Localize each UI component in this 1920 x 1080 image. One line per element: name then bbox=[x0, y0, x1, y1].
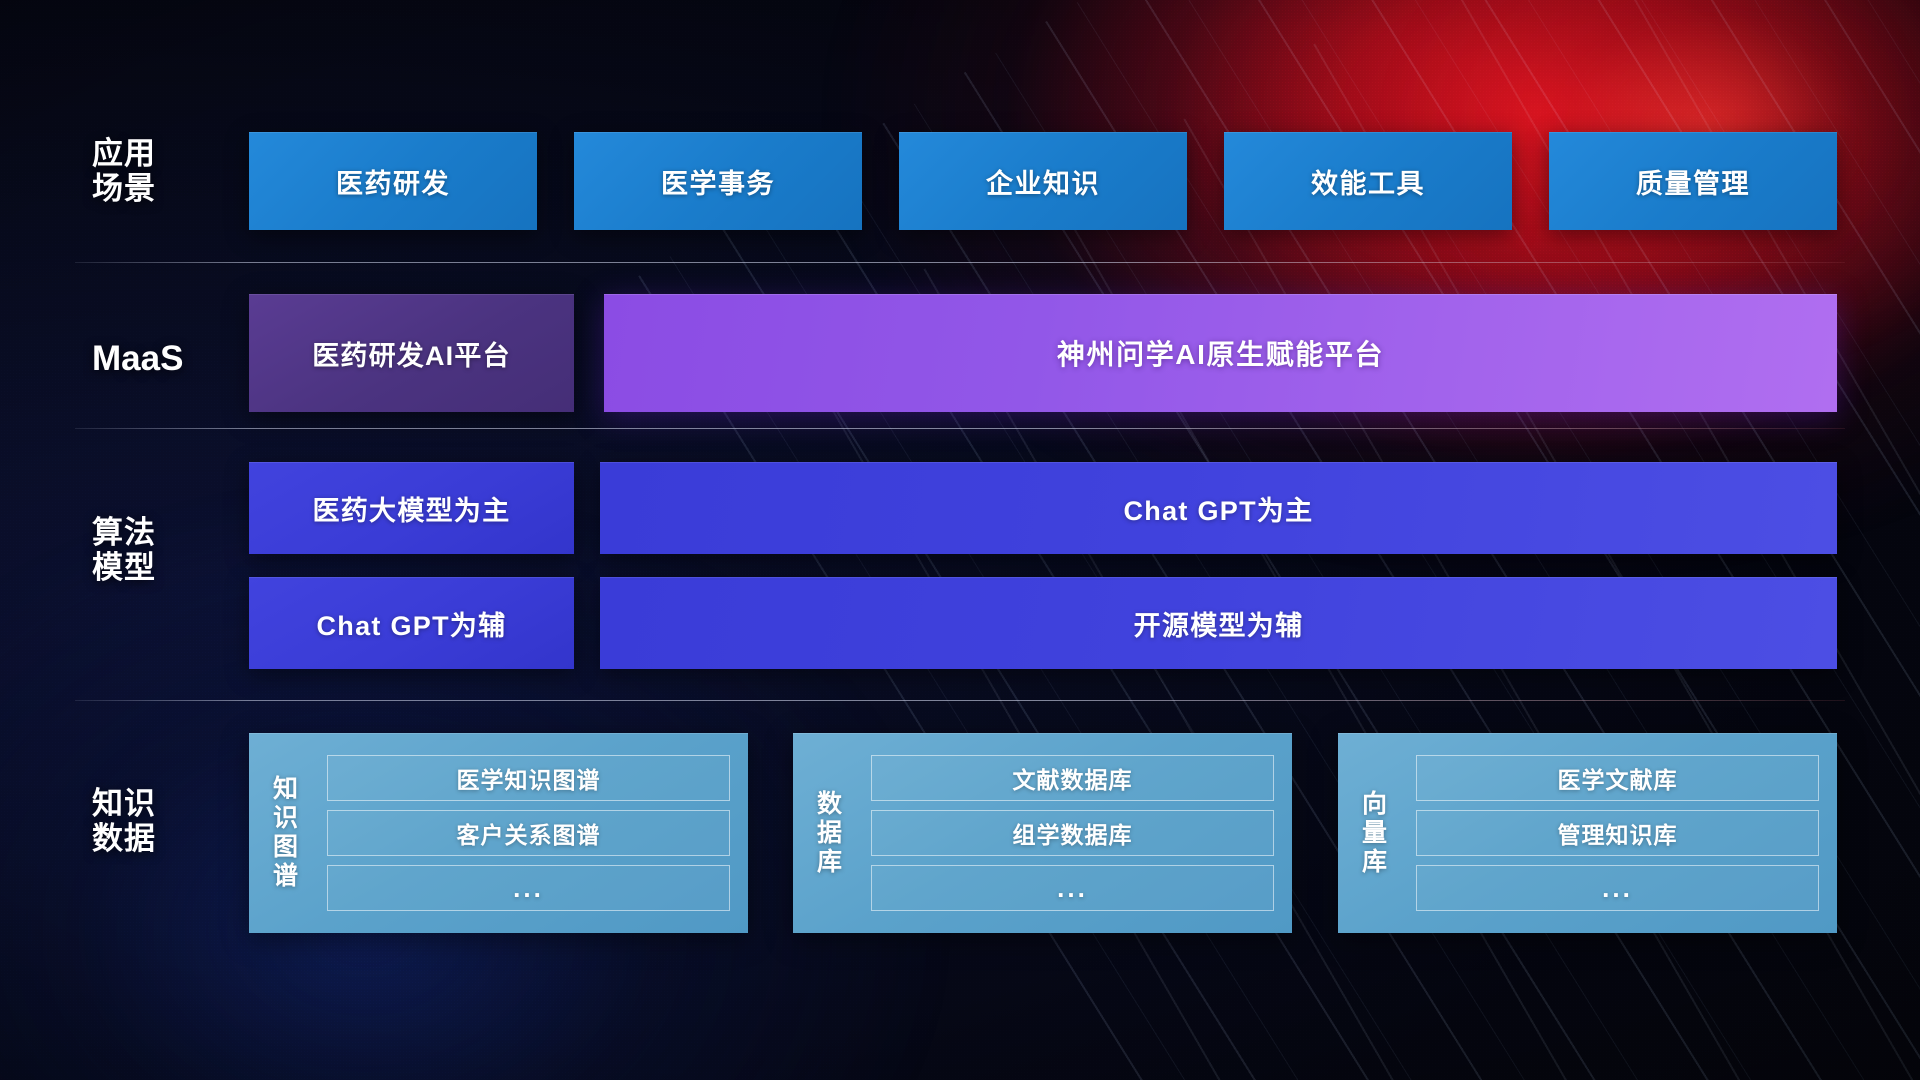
knowledge-panel-items: 医学文献库 管理知识库 ... bbox=[1412, 733, 1837, 933]
knowledge-item[interactable]: 组学数据库 bbox=[871, 810, 1274, 856]
diagram-content: 应用 场景 医药研发 医学事务 企业知识 效能工具 质量管理 MaaS bbox=[0, 0, 1920, 1080]
vertical-label-char: 知 bbox=[273, 775, 299, 804]
row-label-line-2: 场景 bbox=[92, 171, 222, 206]
divider-1 bbox=[75, 262, 1845, 263]
app-box-label: 效能工具 bbox=[1311, 162, 1425, 201]
row-label-line-1: 应用 bbox=[92, 136, 222, 171]
row-label-line-1: MaaS bbox=[92, 339, 222, 379]
row-label-line-1: 知识 bbox=[92, 786, 222, 821]
app-box-label: 医学事务 bbox=[661, 162, 775, 201]
app-box-medicine-rd[interactable]: 医药研发 bbox=[249, 132, 537, 230]
knowledge-panel-vector-store[interactable]: 向 量 库 医学文献库 管理知识库 ... bbox=[1338, 733, 1837, 933]
knowledge-panel-vertical-label: 知 识 图 谱 bbox=[249, 733, 323, 933]
algo-box-label: 开源模型为辅 bbox=[1134, 604, 1304, 643]
row-label-line-2: 数据 bbox=[92, 821, 222, 856]
row-label-line-1: 算法 bbox=[92, 515, 222, 550]
app-box-label: 企业知识 bbox=[986, 162, 1100, 201]
vertical-label-char: 库 bbox=[817, 848, 843, 877]
knowledge-item-more[interactable]: ... bbox=[871, 865, 1274, 911]
diagram-canvas: 应用 场景 医药研发 医学事务 企业知识 效能工具 质量管理 MaaS bbox=[0, 0, 1920, 1080]
maas-box-label: 神州问学AI原生赋能平台 bbox=[1057, 333, 1384, 373]
knowledge-item[interactable]: 客户关系图谱 bbox=[327, 810, 730, 856]
vertical-label-char: 识 bbox=[273, 804, 299, 833]
knowledge-item[interactable]: 医学知识图谱 bbox=[327, 755, 730, 801]
vertical-label-char: 图 bbox=[273, 833, 299, 862]
divider-2 bbox=[75, 428, 1845, 429]
row-label-application-scenario: 应用 场景 bbox=[92, 136, 222, 207]
vertical-label-char: 向 bbox=[1362, 790, 1388, 819]
knowledge-item-more[interactable]: ... bbox=[1416, 865, 1819, 911]
app-box-quality-management[interactable]: 质量管理 bbox=[1549, 132, 1837, 230]
knowledge-panel-items: 医学知识图谱 客户关系图谱 ... bbox=[323, 733, 748, 933]
knowledge-item[interactable]: 管理知识库 bbox=[1416, 810, 1819, 856]
row-label-algorithm-model: 算法 模型 bbox=[92, 515, 222, 586]
app-box-label: 质量管理 bbox=[1636, 162, 1750, 201]
knowledge-item[interactable]: 文献数据库 bbox=[871, 755, 1274, 801]
algo-box-chatgpt-primary[interactable]: Chat GPT为主 bbox=[600, 462, 1837, 554]
knowledge-panel-vertical-label: 数 据 库 bbox=[793, 733, 867, 933]
algo-box-medicine-large-model-primary[interactable]: 医药大模型为主 bbox=[249, 462, 574, 554]
app-box-enterprise-knowledge[interactable]: 企业知识 bbox=[899, 132, 1187, 230]
app-box-efficiency-tools[interactable]: 效能工具 bbox=[1224, 132, 1512, 230]
maas-box-shenzhou-wenxue-platform[interactable]: 神州问学AI原生赋能平台 bbox=[604, 294, 1837, 412]
vertical-label-char: 量 bbox=[1362, 819, 1388, 848]
knowledge-panel-items: 文献数据库 组学数据库 ... bbox=[867, 733, 1292, 933]
algo-box-label: 医药大模型为主 bbox=[312, 489, 510, 528]
row-label-line-2: 模型 bbox=[92, 550, 222, 585]
row-label-maas: MaaS bbox=[92, 339, 222, 379]
knowledge-panel-knowledge-graph[interactable]: 知 识 图 谱 医学知识图谱 客户关系图谱 ... bbox=[249, 733, 748, 933]
app-box-label: 医药研发 bbox=[336, 162, 450, 201]
row-label-knowledge-data: 知识 数据 bbox=[92, 786, 222, 857]
vertical-label-char: 库 bbox=[1362, 848, 1388, 877]
divider-3 bbox=[75, 700, 1845, 701]
maas-box-medicine-rd-platform[interactable]: 医药研发AI平台 bbox=[249, 294, 574, 412]
knowledge-item-more[interactable]: ... bbox=[327, 865, 730, 911]
vertical-label-char: 据 bbox=[817, 819, 843, 848]
algo-box-label: Chat GPT为主 bbox=[1123, 489, 1313, 528]
maas-box-label: 医药研发AI平台 bbox=[312, 334, 511, 373]
knowledge-panel-database[interactable]: 数 据 库 文献数据库 组学数据库 ... bbox=[793, 733, 1292, 933]
knowledge-panel-vertical-label: 向 量 库 bbox=[1338, 733, 1412, 933]
algo-box-opensource-model-secondary[interactable]: 开源模型为辅 bbox=[600, 577, 1837, 669]
algo-box-label: Chat GPT为辅 bbox=[316, 604, 506, 643]
vertical-label-char: 数 bbox=[817, 790, 843, 819]
app-box-medical-affairs[interactable]: 医学事务 bbox=[574, 132, 862, 230]
algo-box-chatgpt-secondary[interactable]: Chat GPT为辅 bbox=[249, 577, 574, 669]
knowledge-item[interactable]: 医学文献库 bbox=[1416, 755, 1819, 801]
vertical-label-char: 谱 bbox=[273, 862, 299, 891]
